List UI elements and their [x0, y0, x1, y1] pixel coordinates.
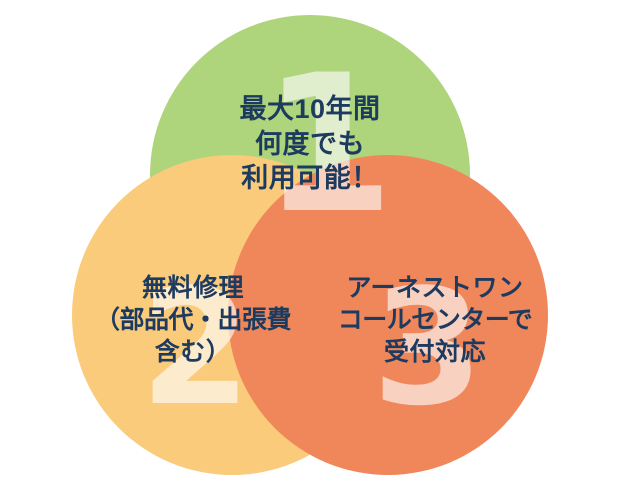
venn-circles-svg [0, 0, 620, 495]
venn-diagram: 1 2 3 最大10年間 何度でも 利用可能！ 無料修理 （部品代・出張費 含む… [0, 0, 620, 495]
venn-circle-right [228, 155, 548, 475]
